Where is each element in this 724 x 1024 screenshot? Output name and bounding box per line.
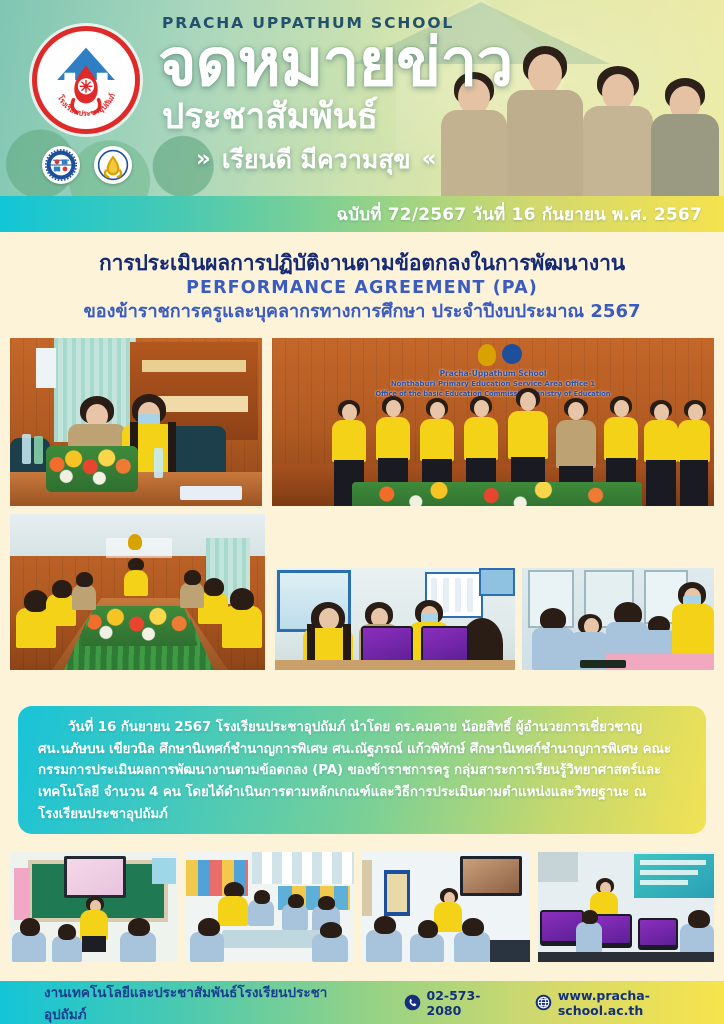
issue-date-bar: ฉบับที่ 72/2567 วันที่ 16 กันยายน พ.ศ. 2…	[0, 196, 724, 232]
description-box: วันที่ 16 กันยายน 2567 โรงเรียนประชาอุปถ…	[18, 706, 706, 834]
photo-teacher-with-students	[522, 568, 714, 670]
footer-phone-number: 02-573-2080	[427, 988, 509, 1018]
staff-person-2	[506, 46, 584, 196]
headline-block: การประเมินผลการปฏิบัติงานตามข้อตกลงในการ…	[0, 232, 724, 336]
photo-classroom-group-activity	[186, 852, 354, 962]
footer-website[interactable]: www.pracha-school.ac.th	[535, 988, 724, 1018]
footer-organization: งานเทคโนโลยีและประชาสัมพันธ์โรงเรียนประช…	[44, 981, 352, 1024]
staff-person-4	[650, 74, 720, 196]
photo-computer-lab-lesson	[538, 852, 714, 962]
affiliation-emblems	[42, 146, 132, 184]
pracha-uppathum-school-emblem: โรงเรียนประชาอุปถัมภ์	[32, 26, 140, 134]
header-banner: โรงเรียนประชาอุปถัมภ์	[0, 0, 724, 196]
ministry-of-education-emblem	[94, 146, 132, 184]
guillemet-left-icon: »	[196, 148, 211, 171]
photo-meeting-room-closeup	[10, 338, 262, 506]
globe-icon	[535, 994, 552, 1011]
photo-computer-workstations	[275, 568, 515, 670]
headline-line-2: PERFORMANCE AGREEMENT (PA)	[186, 277, 538, 300]
newsletter-poster: โรงเรียนประชาอุปถัมภ์	[0, 0, 724, 1024]
photo-group-with-backdrop: Pracha-Uppathum School Nonthaburi Primar…	[272, 338, 714, 506]
guillemet-right-icon: «	[422, 148, 437, 171]
group-person-8	[642, 400, 680, 506]
headline-line-1: การประเมินผลการปฏิบัติงานตามข้อตกลงในการ…	[99, 250, 625, 276]
photo-classroom-chalkboard	[10, 852, 178, 962]
footer-phone[interactable]: 02-573-2080	[404, 988, 509, 1018]
school-motto: » เรียนดี มีความสุข «	[196, 147, 436, 172]
photo-conference-table-wide	[10, 514, 265, 670]
phone-icon	[404, 994, 421, 1011]
obec-emblem	[42, 146, 80, 184]
backdrop-line-1: Pracha-Uppathum School	[272, 368, 714, 379]
backdrop-text: Pracha-Uppathum School Nonthaburi Primar…	[272, 368, 714, 400]
headline-line-3: ของข้าราชการครูและบุคลากรทางการศึกษา ประ…	[83, 300, 640, 324]
school-motto-text: เรียนดี มีความสุข	[222, 147, 411, 172]
photo-classroom-wall-tv	[362, 852, 530, 962]
footer-website-url: www.pracha-school.ac.th	[558, 988, 724, 1018]
footer-bar: งานเทคโนโลยีและประชาสัมพันธ์โรงเรียนประช…	[0, 981, 724, 1024]
newsletter-subtitle: ประชาสัมพันธ์	[162, 100, 378, 135]
issue-date-text: ฉบับที่ 72/2567 วันที่ 16 กันยายน พ.ศ. 2…	[336, 201, 702, 228]
group-person-9	[678, 400, 712, 506]
newsletter-title: จดหมายข่าว	[158, 30, 513, 96]
backdrop-line-2: Nonthaburi Primary Education Service Are…	[272, 379, 714, 390]
description-text: วันที่ 16 กันยายน 2567 โรงเรียนประชาอุปถ…	[38, 717, 686, 826]
staff-person-3	[582, 64, 654, 196]
